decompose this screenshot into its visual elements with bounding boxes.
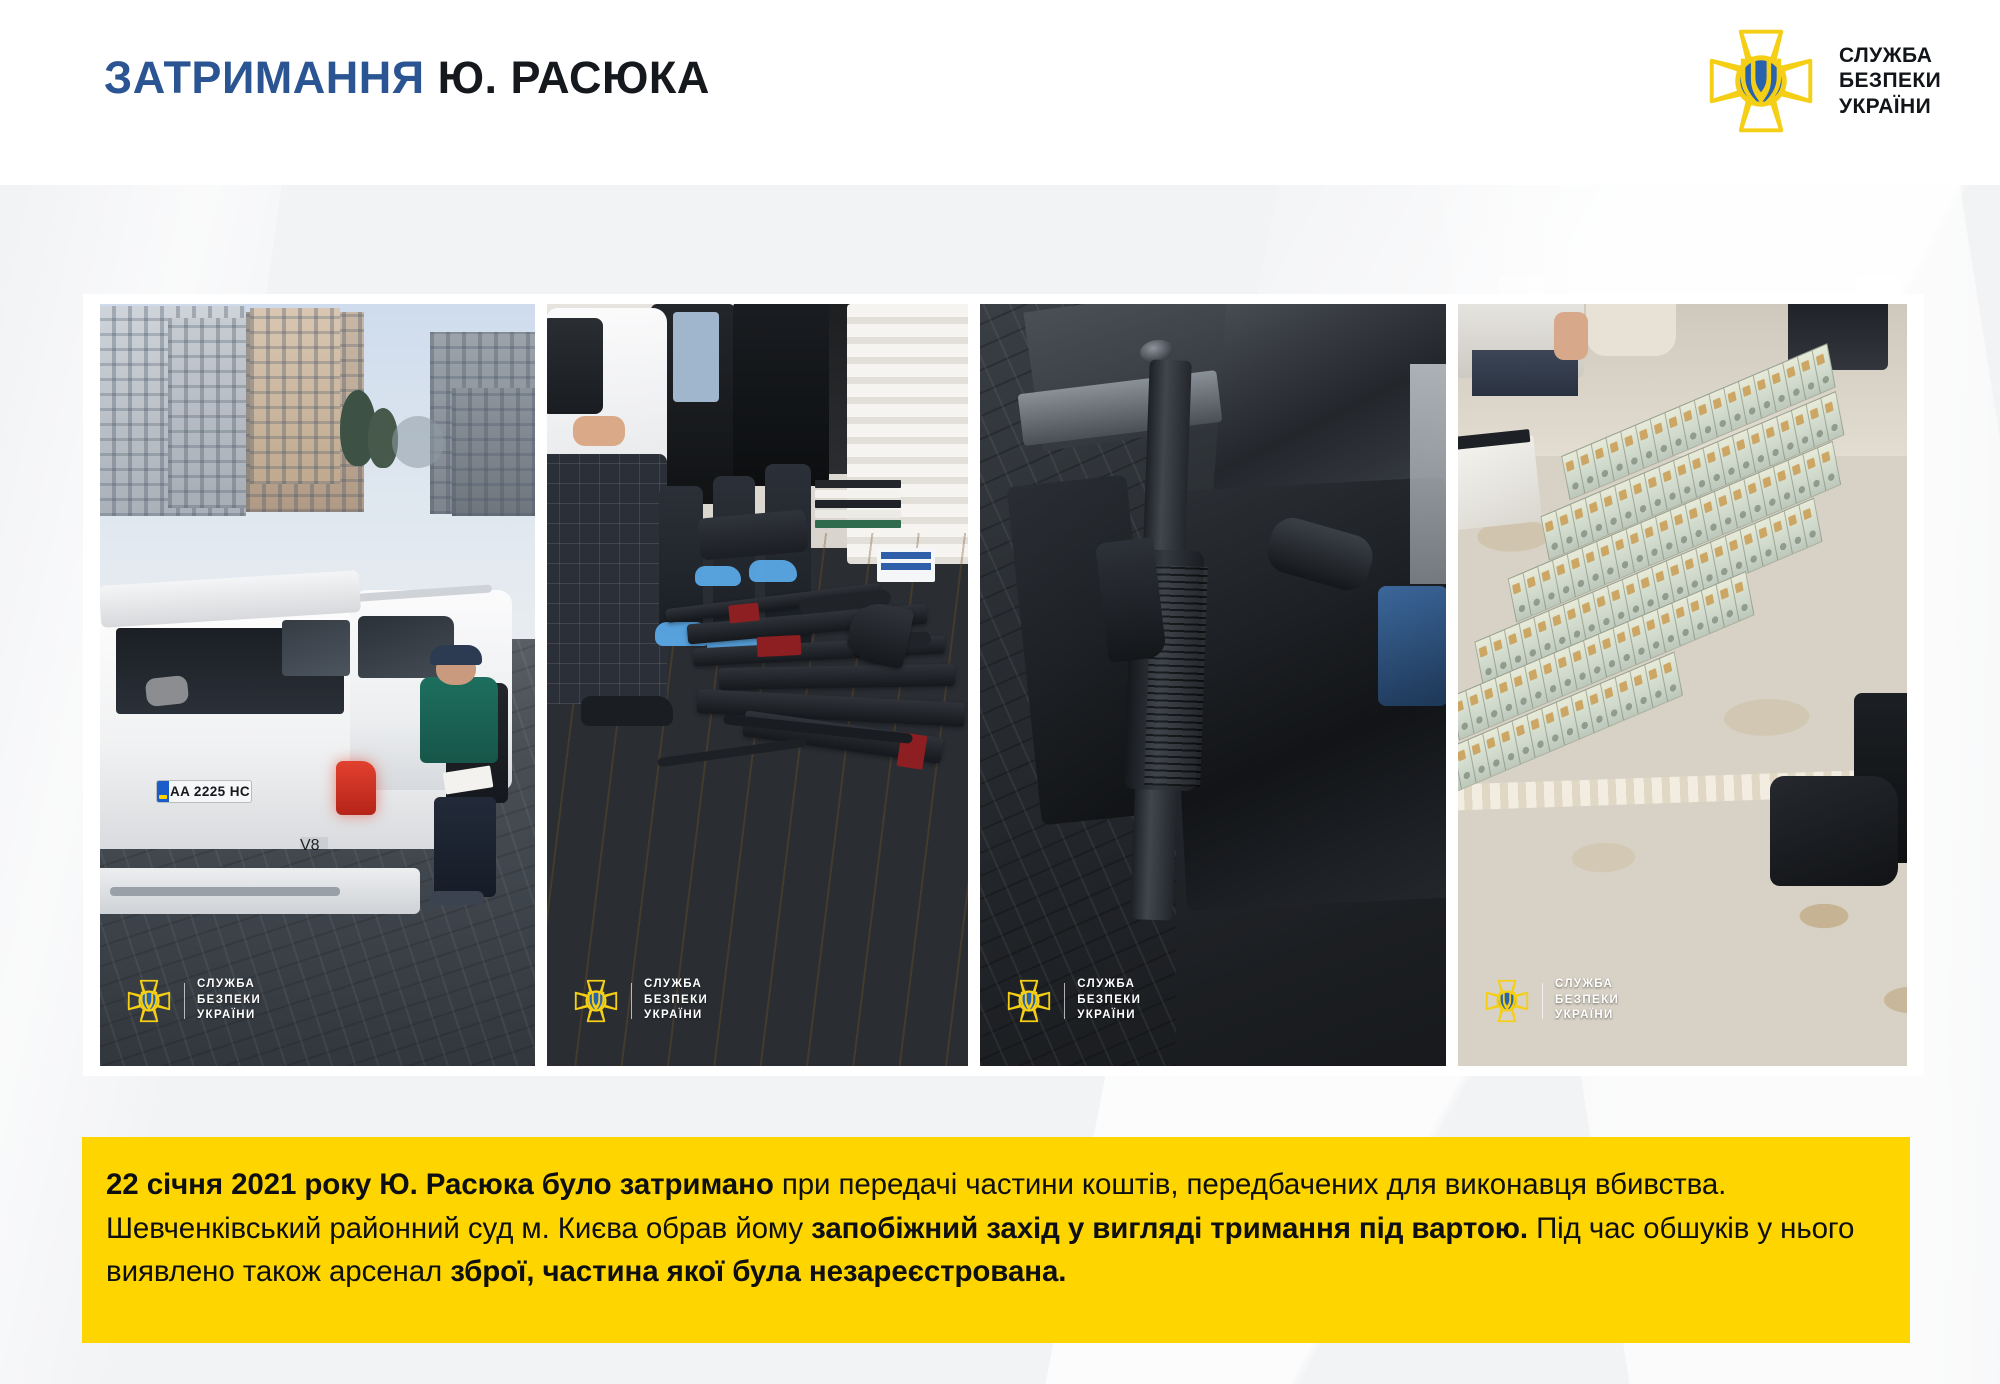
person-checked-trousers xyxy=(547,454,667,704)
watermark-text: СЛУЖБА БЕЗПЕКИ УКРАЇНИ xyxy=(644,977,708,1024)
person-hand xyxy=(573,416,625,446)
watermark-text: СЛУЖБА БЕЗПЕКИ УКРАЇНИ xyxy=(1555,977,1619,1024)
sbu-cross-icon xyxy=(1006,978,1052,1024)
watermark-line-2: БЕЗПЕКИ xyxy=(1077,993,1141,1009)
person-shoe xyxy=(1770,776,1898,886)
page-title-dark: Ю. РАСЮКА xyxy=(438,52,710,103)
person-legs xyxy=(434,797,496,897)
person-vest xyxy=(547,318,603,414)
watermark-divider xyxy=(184,983,185,1019)
side-window xyxy=(282,620,350,676)
trunk-contents xyxy=(145,675,190,707)
watermark-text: СЛУЖБА БЕЗПЕКИ УКРАЇНИ xyxy=(197,977,261,1024)
sbu-logo-line-2: БЕЗПЕКИ xyxy=(1839,68,1941,94)
vehicle-badge: V8 xyxy=(300,837,328,849)
page-title: ЗАТРИМАННЯ Ю. РАСЮКА xyxy=(104,52,710,104)
watermark-line-2: БЕЗПЕКИ xyxy=(644,993,708,1009)
clipboard-document xyxy=(1458,436,1542,533)
photo-rifle-closeup[interactable]: СЛУЖБА БЕЗПЕКИ УКРАЇНИ xyxy=(980,304,1446,1066)
person-puffer-jacket xyxy=(733,304,829,486)
watermark-line-1: СЛУЖБА xyxy=(197,977,261,993)
person-torso xyxy=(420,677,498,763)
sbu-cross-icon xyxy=(126,978,172,1024)
person-shoe xyxy=(581,696,673,726)
sbu-cross-icon xyxy=(1705,25,1817,137)
caption-text: 22 січня 2021 року Ю. Расюка було затрим… xyxy=(106,1163,1880,1294)
sbu-cross-icon xyxy=(1484,978,1530,1024)
sbu-photo-watermark: СЛУЖБА БЕЗПЕКИ УКРАЇНИ xyxy=(1006,977,1141,1024)
photo-gallery-frame: V8 AA 2225 HC xyxy=(83,294,1924,1076)
watermark-line-2: БЕЗПЕКИ xyxy=(197,993,261,1009)
person-blue-shirt xyxy=(673,312,719,402)
watermark-line-2: БЕЗПЕКИ xyxy=(1555,993,1619,1009)
sbu-logo-line-1: СЛУЖБА xyxy=(1839,43,1941,69)
person-arm xyxy=(1554,312,1588,360)
watermark-divider xyxy=(1542,983,1543,1019)
red-case xyxy=(728,602,760,623)
sbu-logo-line-3: УКРАЇНИ xyxy=(1839,94,1941,120)
building xyxy=(452,388,535,516)
watermark-line-3: УКРАЇНИ xyxy=(644,1008,708,1024)
shoe-cover xyxy=(749,560,797,582)
watermark-line-1: СЛУЖБА xyxy=(1555,977,1619,993)
photo-weapons-floor[interactable]: СЛУЖБА БЕЗПЕКИ УКРАЇНИ xyxy=(547,304,968,1066)
rifle-with-scope xyxy=(719,664,955,690)
watermark-text: СЛУЖБА БЕЗПЕКИ УКРАЇНИ xyxy=(1077,977,1141,1024)
photo-cash-table[interactable]: СЛУЖБА БЕЗПЕКИ УКРАЇНИ xyxy=(1458,304,1907,1066)
watermark-line-1: СЛУЖБА xyxy=(644,977,708,993)
license-plate: AA 2225 HC xyxy=(156,780,252,803)
sbu-logo-text: СЛУЖБА БЕЗПЕКИ УКРАЇНИ xyxy=(1839,43,1941,120)
page-title-blue: ЗАТРИМАННЯ xyxy=(104,52,425,103)
caption-segment-bold: 22 січня 2021 року Ю. Расюка було затрим… xyxy=(106,1168,774,1201)
bumper-strip xyxy=(110,887,340,896)
shoe-cover xyxy=(695,566,741,586)
caption-segment-bold: зброї, xyxy=(450,1255,534,1288)
red-case xyxy=(757,635,802,657)
watermark-line-3: УКРАЇНИ xyxy=(197,1008,261,1024)
person-shoe xyxy=(430,891,484,905)
sbu-photo-watermark: СЛУЖБА БЕЗПЕКИ УКРАЇНИ xyxy=(573,977,708,1024)
tail-light xyxy=(336,761,376,815)
license-plate-number: AA 2225 HC xyxy=(169,784,251,799)
person-cap xyxy=(430,645,482,665)
caption-segment-bold: частина якої була незареєстрована. xyxy=(542,1255,1066,1288)
paper-edge xyxy=(1410,364,1446,584)
sbu-cross-icon xyxy=(573,978,619,1024)
photo-arrest-suv[interactable]: V8 AA 2225 HC xyxy=(100,304,535,1066)
blue-fabric xyxy=(1378,586,1446,706)
caption-banner: 22 січня 2021 року Ю. Расюка було затрим… xyxy=(82,1137,1910,1343)
watermark-line-3: УКРАЇНИ xyxy=(1555,1008,1619,1024)
books-stack xyxy=(815,480,901,526)
chair-back xyxy=(1586,304,1676,356)
caption-segment-bold: запобіжний захід у вигляді тримання під … xyxy=(811,1212,1528,1245)
photo-row: V8 AA 2225 HC xyxy=(100,304,1907,1066)
presentation-slide: ЗАТРИМАННЯ Ю. РАСЮКА СЛУЖБА БЕЗПЕКИ УКРА… xyxy=(0,0,2000,1384)
watermark-line-1: СЛУЖБА xyxy=(1077,977,1141,993)
sbu-photo-watermark: СЛУЖБА БЕЗПЕКИ УКРАЇНИ xyxy=(1484,977,1619,1024)
tree xyxy=(392,416,444,468)
watermark-divider xyxy=(631,983,632,1019)
sbu-photo-watermark: СЛУЖБА БЕЗПЕКИ УКРАЇНИ xyxy=(126,977,261,1024)
small-box xyxy=(877,548,935,582)
slide-header: ЗАТРИМАННЯ Ю. РАСЮКА СЛУЖБА БЕЗПЕКИ УКРА… xyxy=(0,0,2000,185)
license-plate-country-band xyxy=(157,781,169,802)
watermark-divider xyxy=(1064,983,1065,1019)
watermark-line-3: УКРАЇНИ xyxy=(1077,1008,1141,1024)
sbu-logo: СЛУЖБА БЕЗПЕКИ УКРАЇНИ xyxy=(1705,22,1975,140)
building xyxy=(250,308,340,484)
